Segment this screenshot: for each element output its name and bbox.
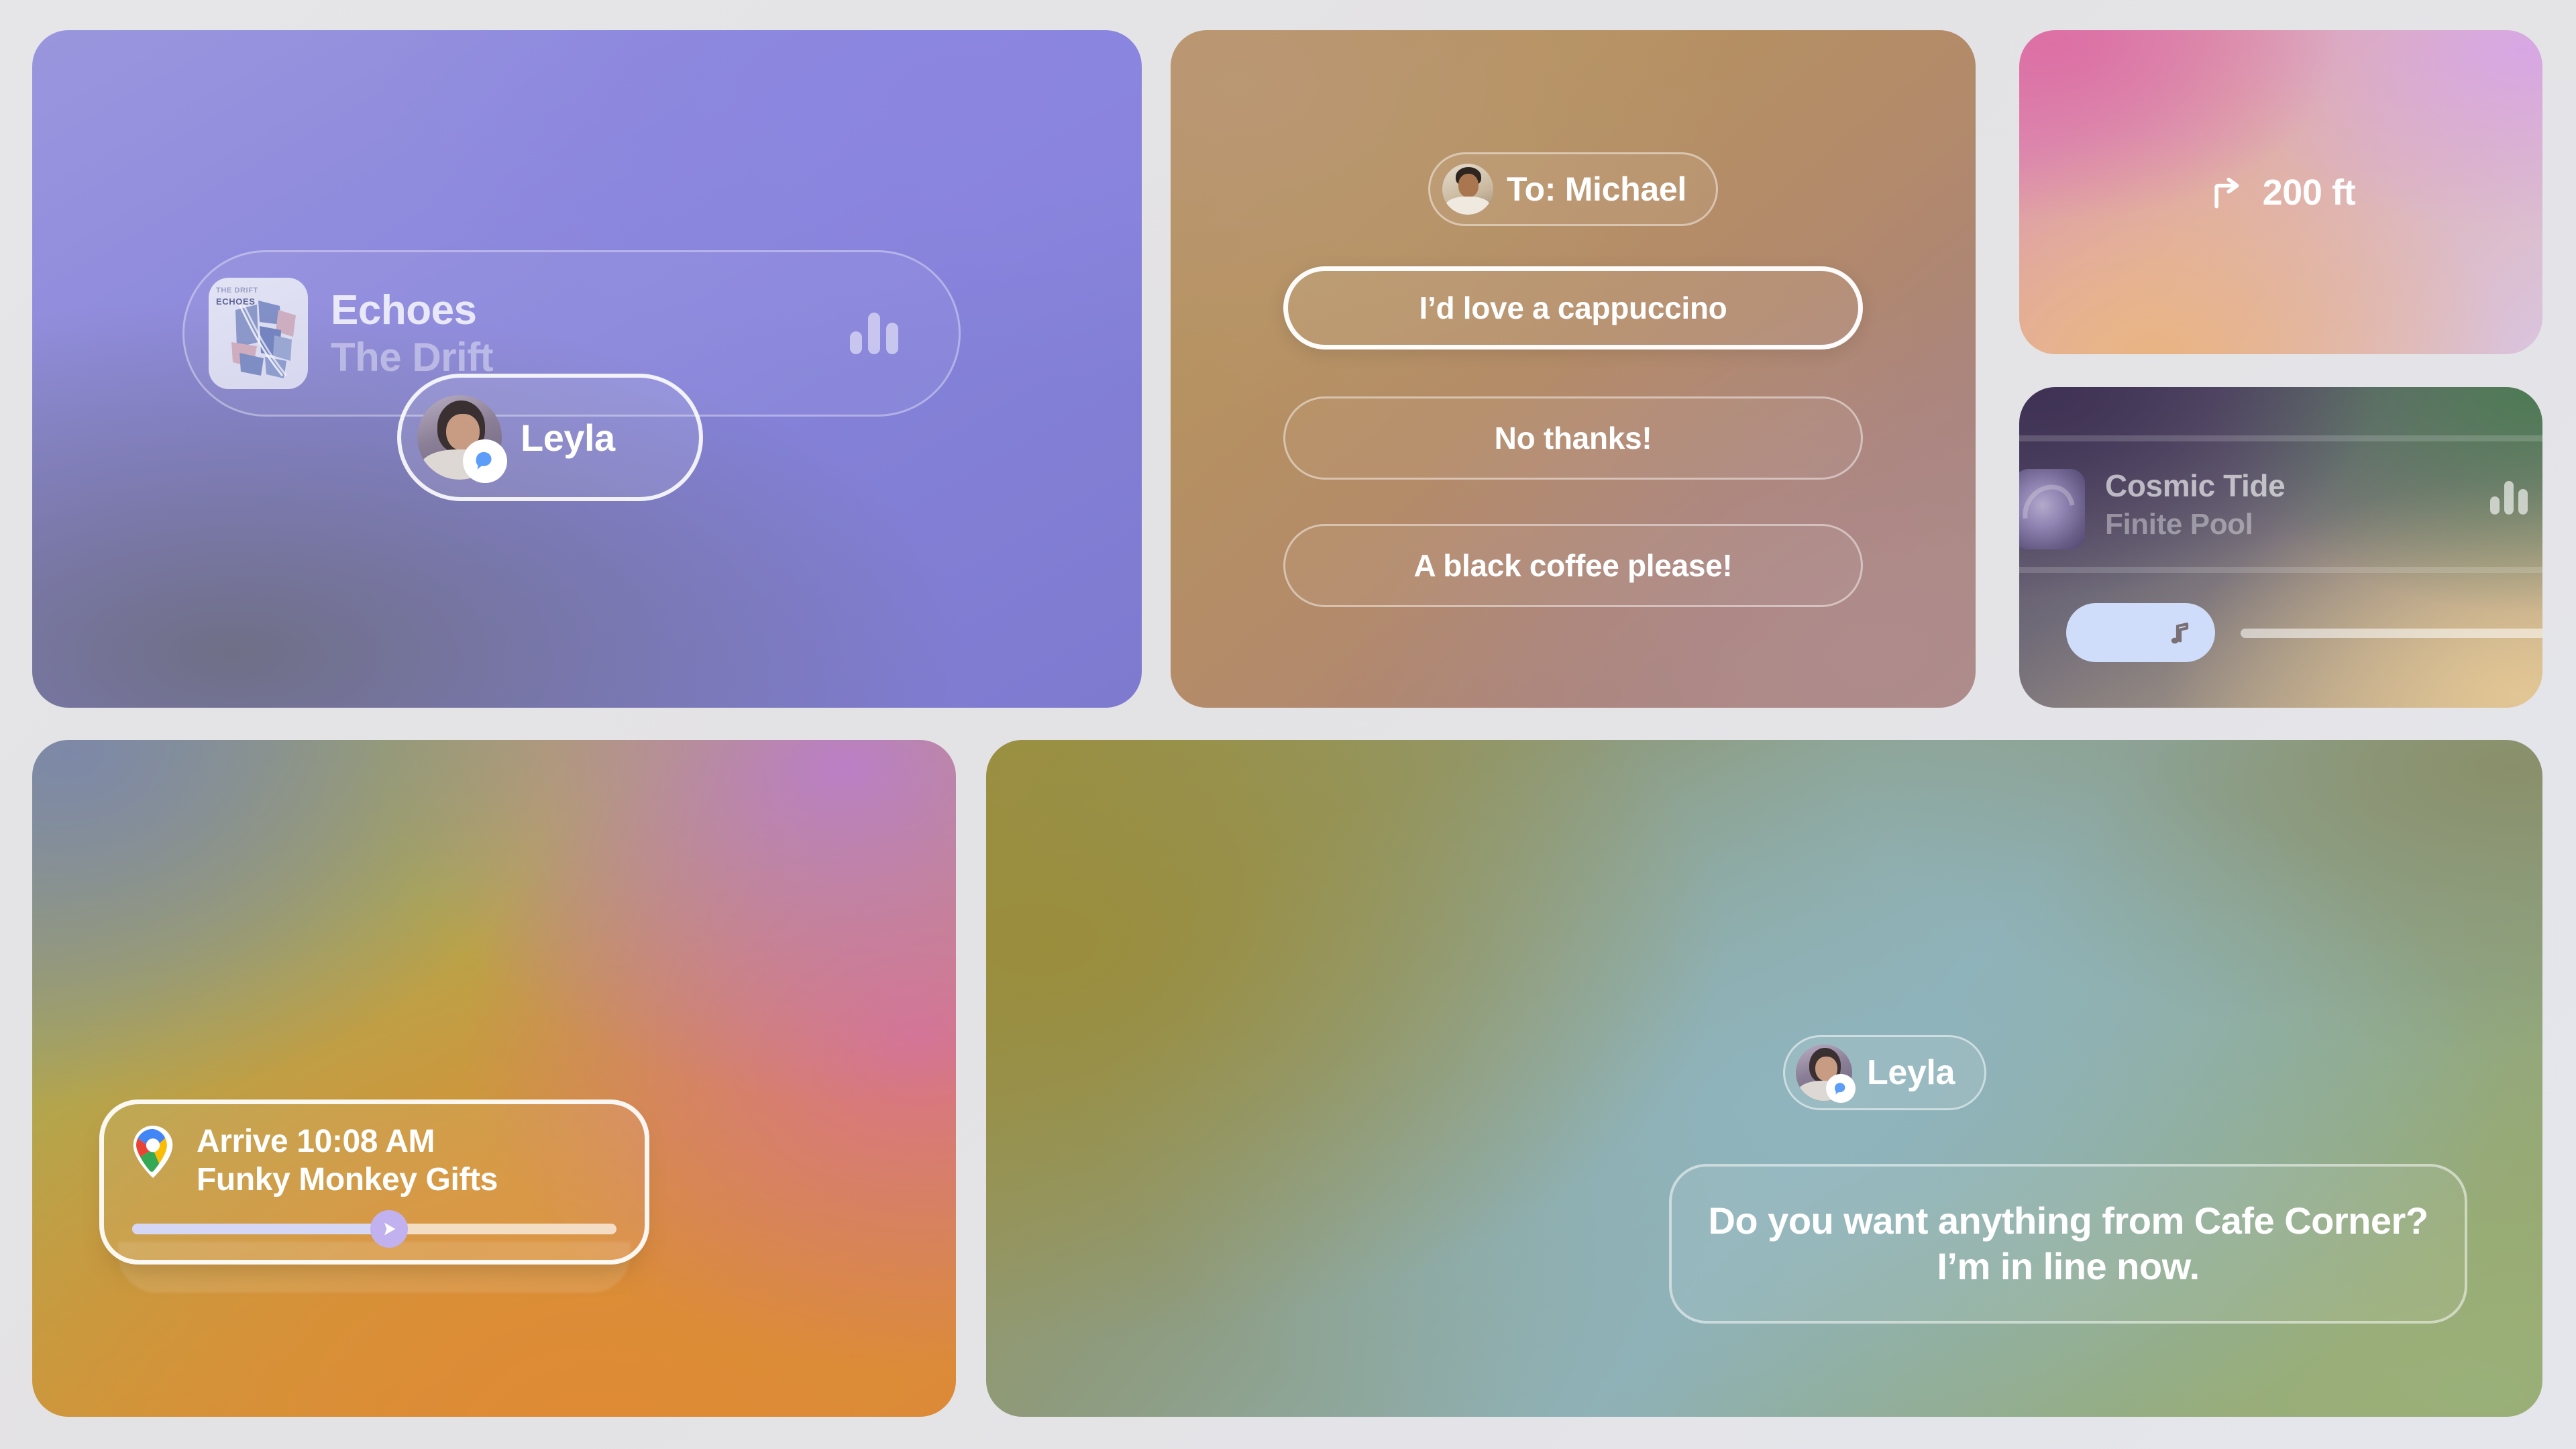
message-text: Do you want anything from Cafe Corner? I…	[1699, 1198, 2438, 1290]
reply-option-label: No thanks!	[1495, 420, 1652, 456]
music-note-icon	[2164, 616, 2196, 649]
player-divider-bottom	[2019, 567, 2542, 573]
route-header: Arrive 10:08 AM Funky Monkey Gifts	[127, 1123, 498, 1199]
route-arrival: Arrive 10:08 AM	[197, 1123, 498, 1161]
recipient-chip[interactable]: To: Michael	[1428, 152, 1718, 226]
player-title: Cosmic Tide	[2105, 468, 2285, 504]
turn-right-icon	[2206, 172, 2248, 213]
contact-chip-label: Leyla	[521, 416, 615, 460]
route-eta-panel[interactable]: Arrive 10:08 AM Funky Monkey Gifts	[99, 1099, 649, 1265]
contact-chip-leyla[interactable]: Leyla	[397, 374, 703, 501]
route-progress[interactable]	[132, 1224, 616, 1234]
player-divider-top	[2019, 435, 2542, 441]
reply-option-label: A black coffee please!	[1414, 547, 1733, 584]
equalizer-icon	[2490, 481, 2528, 515]
sender-name: Leyla	[1867, 1053, 1955, 1093]
sender-chip[interactable]: Leyla	[1783, 1035, 1986, 1110]
reply-option-1[interactable]: No thanks!	[1283, 396, 1863, 480]
reply-option-label: I’d love a cappuccino	[1419, 290, 1727, 326]
reply-option-2[interactable]: A black coffee please!	[1283, 524, 1863, 607]
route-text-lines: Arrive 10:08 AM Funky Monkey Gifts	[197, 1123, 498, 1199]
album-art: THE DRIFT ECHOES	[209, 278, 308, 389]
route-card[interactable]: Arrive 10:08 AM Funky Monkey Gifts 8:32	[32, 740, 956, 1417]
maneuver-row: 200 ft	[2206, 172, 2356, 213]
messages-badge-icon	[1826, 1074, 1856, 1104]
player-subtitle: Finite Pool	[2105, 508, 2253, 541]
recipient-label: To: Michael	[1507, 170, 1686, 209]
track-info: Echoes The Drift	[331, 288, 493, 378]
avatar-leyla	[1796, 1044, 1852, 1101]
avatar-leyla	[417, 395, 502, 480]
navigation-arrow-icon	[380, 1220, 398, 1238]
track-artist: The Drift	[331, 336, 493, 378]
incoming-message-card[interactable]: Leyla Do you want anything from Cafe Cor…	[986, 740, 2542, 1417]
reply-option-0[interactable]: I’d love a cappuccino	[1283, 266, 1863, 350]
route-progress-fill	[132, 1224, 389, 1234]
message-bubble: Do you want anything from Cafe Corner? I…	[1669, 1164, 2467, 1324]
track-title: Echoes	[331, 288, 493, 332]
route-destination: Funky Monkey Gifts	[197, 1161, 498, 1199]
messages-badge-icon	[463, 439, 507, 484]
google-maps-pin-icon	[127, 1123, 179, 1181]
media-player-card[interactable]: THE DRIFT ECHOES	[32, 30, 1142, 708]
player-progress-track[interactable]	[2241, 629, 2542, 638]
album-art-swirl	[2019, 469, 2085, 549]
avatar-michael	[1442, 164, 1493, 215]
equalizer-icon	[850, 313, 898, 354]
suggested-replies-card[interactable]: To: Michael I’d love a cappuccino No tha…	[1171, 30, 1976, 708]
navigation-distance-card[interactable]: 200 ft	[2019, 30, 2542, 354]
dashboard-canvas: THE DRIFT ECHOES	[0, 0, 2576, 1449]
player-music-pill[interactable]	[2066, 603, 2215, 662]
distance-label: 200 ft	[2263, 172, 2356, 213]
secondary-player-card[interactable]: Cosmic Tide Finite Pool	[2019, 387, 2542, 708]
route-progress-thumb[interactable]	[370, 1210, 408, 1248]
